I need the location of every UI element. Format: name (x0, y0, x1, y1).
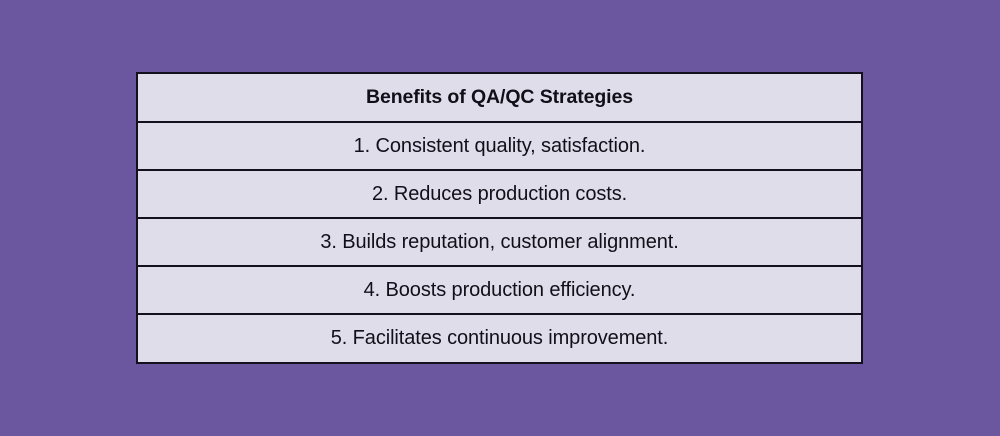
benefits-table-container: Benefits of QA/QC Strategies 1. Consiste… (136, 72, 863, 364)
benefit-item-3: 3. Builds reputation, customer alignment… (138, 218, 861, 266)
benefit-item-5: 5. Facilitates continuous improvement. (138, 314, 861, 362)
table-row: 1. Consistent quality, satisfaction. (138, 122, 861, 170)
benefit-item-4: 4. Boosts production efficiency. (138, 266, 861, 314)
table-row: 5. Facilitates continuous improvement. (138, 314, 861, 362)
benefit-item-1: 1. Consistent quality, satisfaction. (138, 122, 861, 170)
benefits-table: Benefits of QA/QC Strategies 1. Consiste… (138, 74, 861, 362)
table-header: Benefits of QA/QC Strategies (138, 74, 861, 122)
table-header-row: Benefits of QA/QC Strategies (138, 74, 861, 122)
slide-canvas: Benefits of QA/QC Strategies 1. Consiste… (0, 0, 1000, 436)
table-row: 4. Boosts production efficiency. (138, 266, 861, 314)
table-row: 2. Reduces production costs. (138, 170, 861, 218)
benefit-item-2: 2. Reduces production costs. (138, 170, 861, 218)
table-body: 1. Consistent quality, satisfaction. 2. … (138, 122, 861, 362)
table-title-cell: Benefits of QA/QC Strategies (138, 74, 861, 122)
table-row: 3. Builds reputation, customer alignment… (138, 218, 861, 266)
